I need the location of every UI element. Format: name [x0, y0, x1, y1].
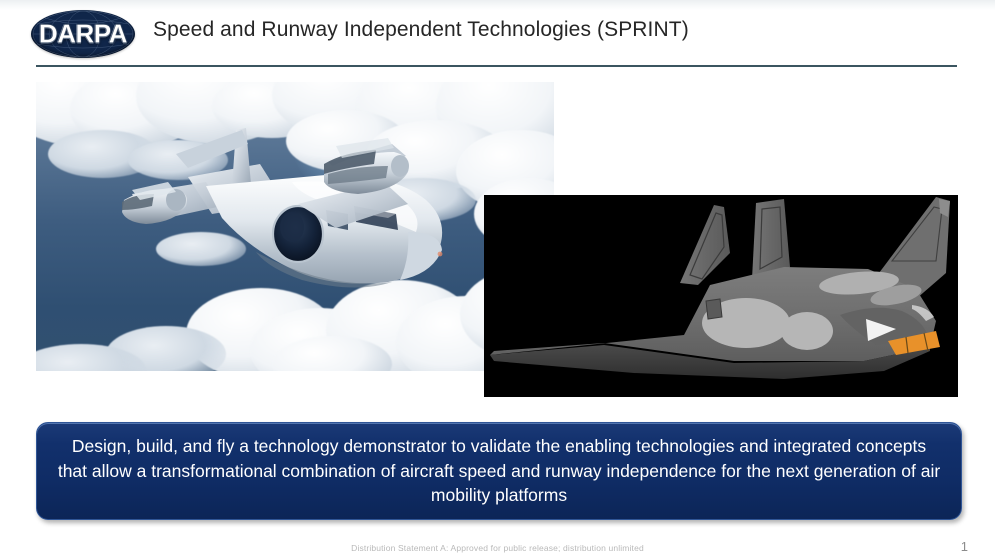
- slide-header: DARPA Speed and Runway Independent Techn…: [0, 0, 995, 70]
- page-number: 1: [961, 539, 968, 554]
- page-title: Speed and Runway Independent Technologie…: [153, 18, 689, 42]
- sensor-panel-small: [781, 312, 833, 350]
- darpa-logo: DARPA: [31, 10, 135, 58]
- distribution-statement: Distribution Statement A: Approved for p…: [0, 543, 995, 553]
- header-divider: [36, 65, 957, 67]
- cad-aircraft-model: [484, 195, 958, 397]
- darpa-logo-text: DARPA: [31, 19, 135, 50]
- mission-statement-text: Design, build, and fly a technology demo…: [37, 434, 961, 509]
- sprint-aircraft-cad-render-image: [484, 195, 958, 397]
- sprint-aircraft-concept-art-image: [36, 82, 554, 371]
- concept-aircraft-silhouette: [36, 82, 554, 371]
- mission-statement-box: Design, build, and fly a technology demo…: [36, 422, 962, 520]
- side-hatch: [706, 299, 722, 319]
